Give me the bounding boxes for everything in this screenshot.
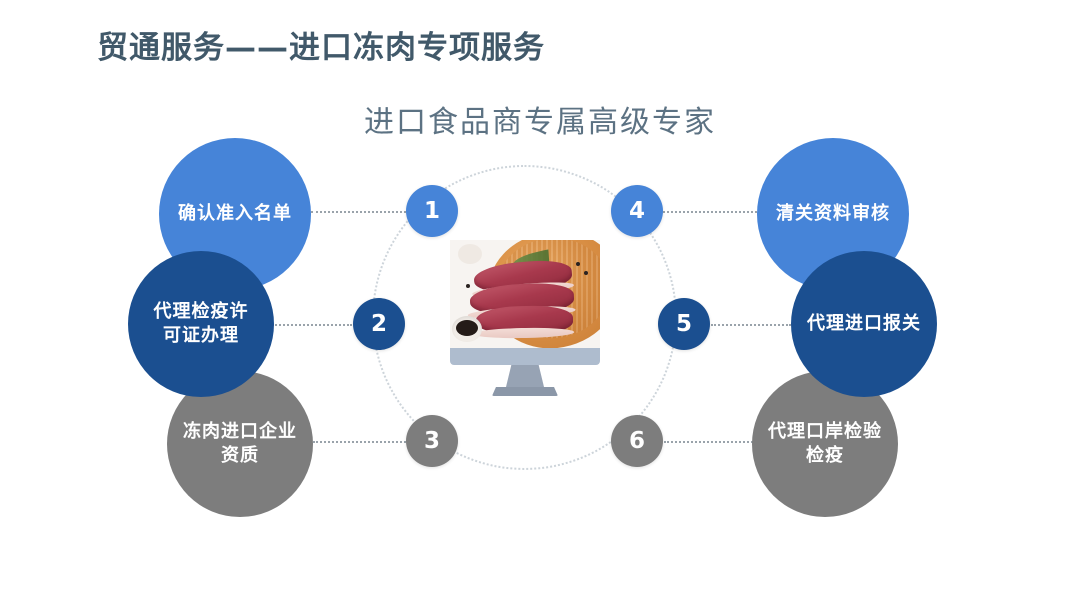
step-bubble-2[interactable]: 代理检疫许 可证办理 bbox=[128, 251, 274, 397]
peppercorn-shape bbox=[466, 284, 470, 288]
connector-line-step-6 bbox=[664, 441, 756, 443]
monitor-bezel-bottom bbox=[450, 348, 600, 365]
connector-line-step-4 bbox=[663, 211, 757, 213]
step-bubble-label-1: 确认准入名单 bbox=[164, 202, 306, 226]
page-subtitle: 进口食品商专属高级专家 bbox=[0, 97, 1080, 141]
page-title: 贸通服务——进口冻肉专项服务 bbox=[97, 22, 545, 67]
step-badge-6[interactable]: 6 bbox=[611, 415, 663, 467]
slide-canvas: 贸通服务——进口冻肉专项服务 进口食品商专属高级专家 确认准入名单 代理检疫许 … bbox=[0, 0, 1080, 608]
peppercorn-shape bbox=[584, 271, 588, 275]
connector-line-step-3 bbox=[313, 441, 406, 443]
connector-line-step-2 bbox=[272, 324, 352, 326]
pepper-bowl-shape bbox=[452, 316, 482, 342]
peppercorn-shape bbox=[576, 262, 580, 266]
monitor-illustration bbox=[450, 240, 600, 396]
garlic-shape bbox=[458, 244, 482, 264]
raw-meat-photo bbox=[450, 240, 600, 348]
step-badge-1[interactable]: 1 bbox=[406, 185, 458, 237]
step-bubble-label-6: 代理口岸检验 检疫 bbox=[754, 420, 896, 469]
connector-line-step-5 bbox=[711, 324, 791, 326]
step-bubble-label-2: 代理检疫许 可证办理 bbox=[140, 300, 263, 349]
step-bubble-label-5: 代理进口报关 bbox=[793, 312, 935, 336]
step-bubble-5[interactable]: 代理进口报关 bbox=[791, 251, 937, 397]
step-badge-5[interactable]: 5 bbox=[658, 298, 710, 350]
steak-slice-shape bbox=[476, 305, 573, 336]
step-badge-2[interactable]: 2 bbox=[353, 298, 405, 350]
connector-line-step-1 bbox=[311, 211, 406, 213]
step-bubble-label-3: 冻肉进口企业 资质 bbox=[169, 420, 311, 469]
step-bubble-label-4: 清关资料审核 bbox=[762, 202, 904, 226]
monitor-screen bbox=[450, 240, 600, 348]
monitor-stand-base bbox=[492, 387, 558, 396]
monitor-stand-neck bbox=[506, 365, 544, 387]
step-badge-4[interactable]: 4 bbox=[611, 185, 663, 237]
step-badge-3[interactable]: 3 bbox=[406, 415, 458, 467]
